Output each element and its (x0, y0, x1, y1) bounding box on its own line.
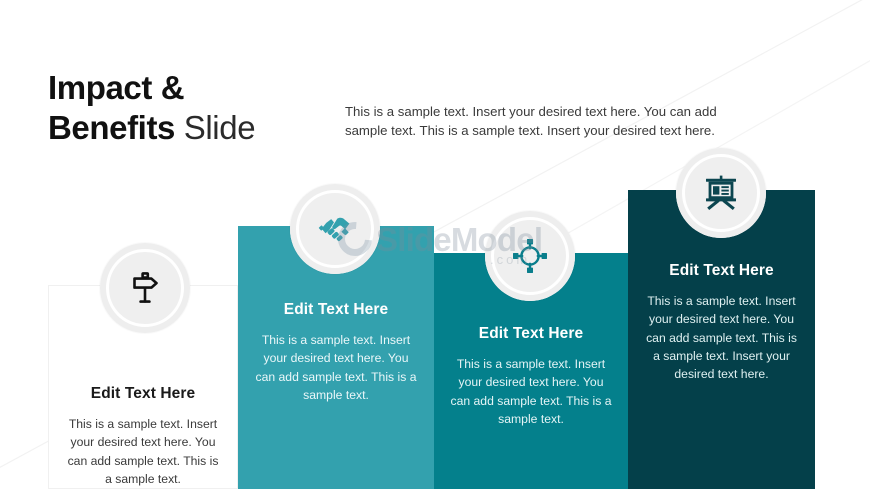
column-1-content: Edit Text Here This is a sample text. In… (48, 385, 238, 488)
column-3-text: This is a sample text. Insert your desir… (450, 355, 612, 428)
column-1-heading: Edit Text Here (64, 385, 222, 403)
column-3-content: Edit Text Here This is a sample text. In… (434, 325, 628, 428)
presentation-board-icon (701, 173, 741, 213)
page-title-line-1: Impact & (48, 68, 255, 108)
column-4-heading: Edit Text Here (644, 262, 799, 280)
page-title: Impact & Benefits Slide (48, 68, 255, 149)
column-4-icon-badge[interactable] (676, 148, 766, 238)
intro-paragraph: This is a sample text. Insert your desir… (345, 102, 755, 140)
column-2-icon-badge[interactable] (290, 184, 380, 274)
column-3-icon-badge[interactable] (485, 211, 575, 301)
page-title-line-2: Benefits Slide (48, 108, 255, 148)
presentation-slide: Impact & Benefits Slide This is a sample… (0, 0, 870, 489)
column-3-heading: Edit Text Here (450, 325, 612, 343)
signpost-icon (125, 268, 165, 308)
target-crosshair-icon (510, 236, 550, 276)
column-4-content: Edit Text Here This is a sample text. In… (628, 262, 815, 383)
column-2-heading: Edit Text Here (254, 301, 418, 319)
page-title-light-part: Slide (175, 109, 255, 146)
column-1-icon-badge[interactable] (100, 243, 190, 333)
column-1-text: This is a sample text. Insert your desir… (64, 415, 222, 488)
handshake-icon (315, 209, 355, 249)
column-2-text: This is a sample text. Insert your desir… (254, 331, 418, 404)
page-title-bold-part: Benefits (48, 109, 175, 146)
column-2-content: Edit Text Here This is a sample text. In… (238, 301, 434, 404)
column-4-text: This is a sample text. Insert your desir… (644, 292, 799, 383)
